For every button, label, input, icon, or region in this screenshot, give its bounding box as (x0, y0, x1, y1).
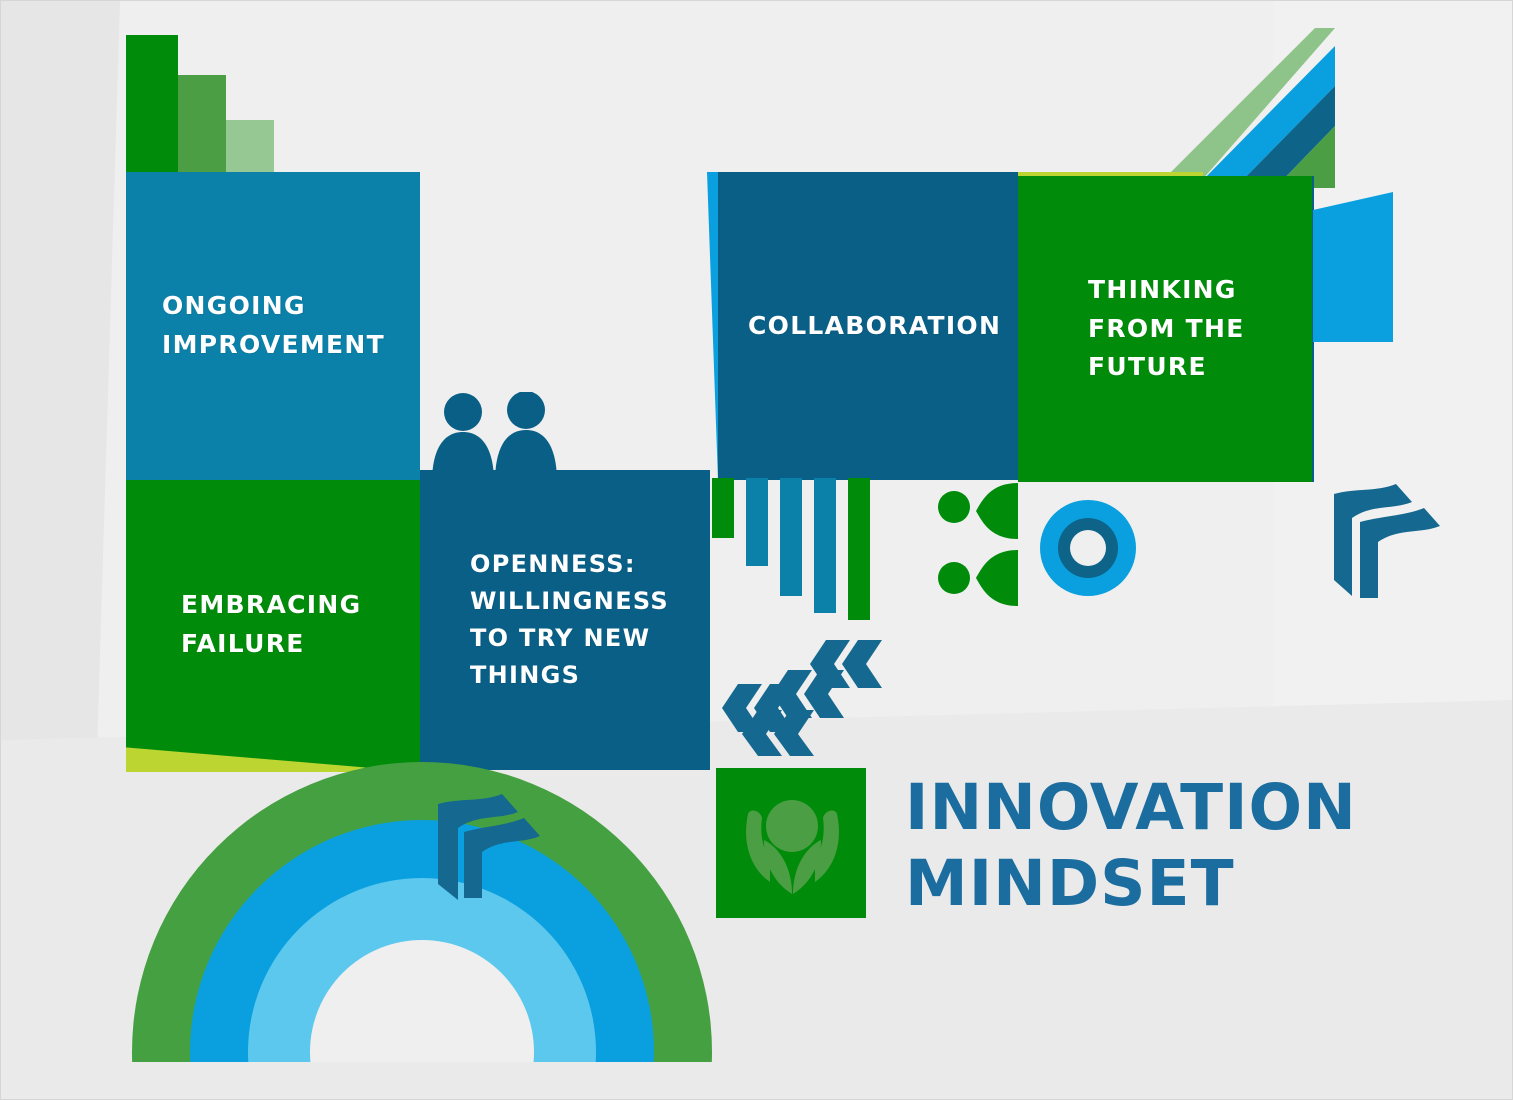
two-people-icon (430, 392, 580, 482)
card-thinking-label: THINKING FROM THE FUTURE (1018, 271, 1312, 387)
infographic-canvas: ONGOING IMPROVEMENT EMBRACING FAILURE OP… (0, 0, 1513, 1100)
card-collaboration-label: COLLABORATION (718, 307, 1001, 346)
card-ongoing-improvement[interactable]: ONGOING IMPROVEMENT (126, 172, 420, 480)
bar-chart-small-icon (712, 478, 870, 613)
hands-plant-icon (740, 790, 845, 895)
rainbow-arc-icon (132, 762, 712, 1062)
card-ongoing-label: ONGOING IMPROVEMENT (126, 287, 420, 365)
title-line-1: INNOVATION (905, 771, 1357, 844)
diagonal-ribbons-icon (1155, 28, 1455, 188)
card-embrace-label: EMBRACING FAILURE (126, 586, 420, 664)
page-title: INNOVATION MINDSET (905, 770, 1465, 921)
card-thinking-from-the-future[interactable]: THINKING FROM THE FUTURE (1018, 176, 1312, 482)
card-openness[interactable]: OPENNESS: WILLINGNESS TO TRY NEW THINGS (420, 470, 710, 770)
think-card-blue-tab (1313, 192, 1393, 342)
title-line-2: MINDSET (905, 846, 1465, 922)
share-network-icon (938, 482, 1018, 607)
chevron-arc-icon (432, 780, 542, 900)
card-embracing-failure[interactable]: EMBRACING FAILURE (126, 480, 420, 770)
bar-chart-icon (126, 35, 274, 175)
chevron-arrow-icon (722, 636, 892, 756)
donut-ring-icon (1040, 500, 1136, 596)
card-collaboration[interactable]: COLLABORATION (718, 172, 1018, 480)
card-openness-label: OPENNESS: WILLINGNESS TO TRY NEW THINGS (420, 546, 710, 695)
chevron-corner-icon (1326, 468, 1446, 598)
